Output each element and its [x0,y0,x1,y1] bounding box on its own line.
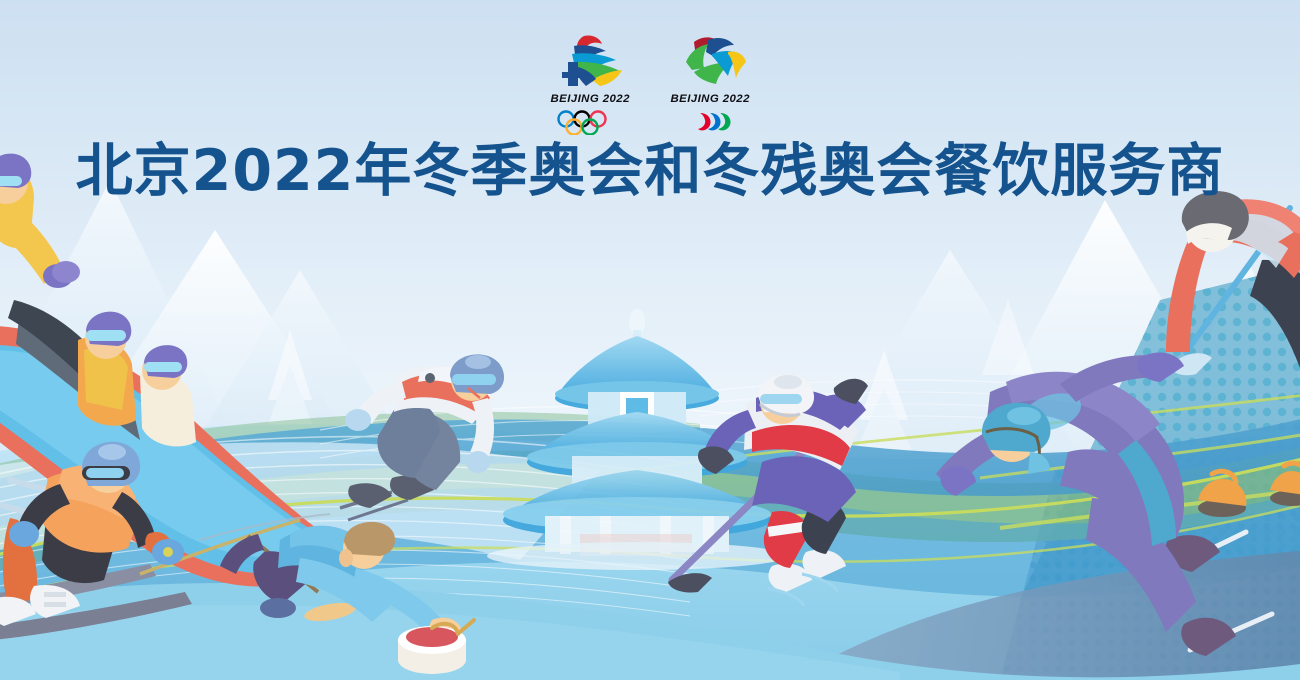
curler-delivering [220,522,474,674]
bobsled-athlete-3 [140,345,196,446]
olympic-rings-icon [552,109,628,135]
paralympic-logo: BEIJING 2022 [664,32,756,135]
curling-stone-red [398,620,474,674]
short-track-skater [340,354,504,520]
paralympic-wordmark: BEIJING 2022 [670,93,749,105]
olympic-wordmark: BEIJING 2022 [550,93,629,105]
olympic-emblem-icon [544,32,636,90]
beijing-2022-banner: BEIJING 2022 BEIJING 2022 [0,0,1300,680]
curling-stone-orange-1 [1198,471,1246,517]
bobsled-athlete-2 [78,312,136,426]
curling-stone-orange-2 [1270,463,1300,506]
paralympic-emblem-icon [664,32,756,90]
olympic-logo: BEIJING 2022 [544,32,636,135]
logo-row: BEIJING 2022 BEIJING 2022 [0,32,1300,135]
agitos-icon [672,109,748,135]
ice-hockey-player [668,374,868,606]
page-title: 北京2022年冬季奥会和冬残奥会餐饮服务商 [0,143,1300,200]
